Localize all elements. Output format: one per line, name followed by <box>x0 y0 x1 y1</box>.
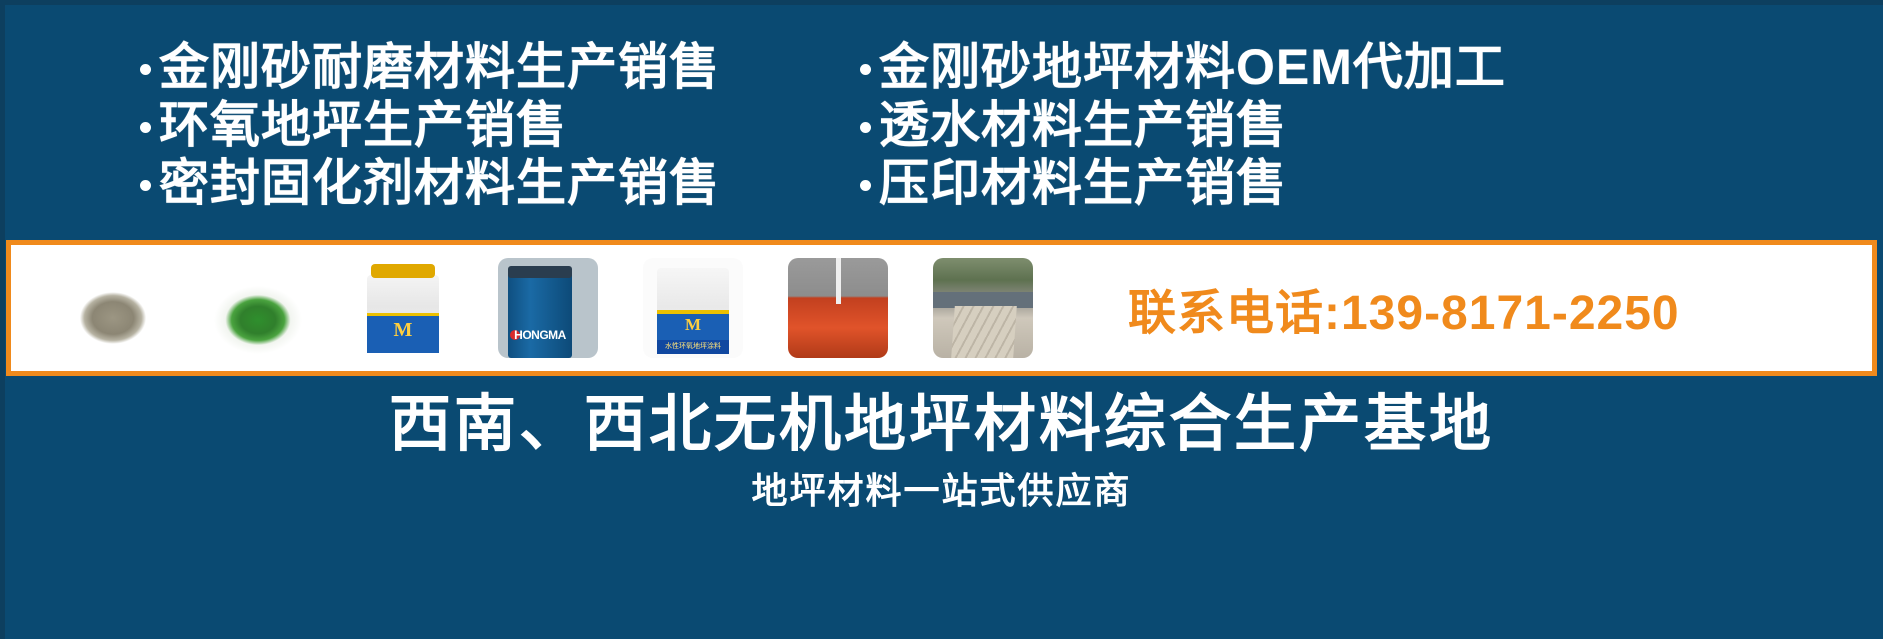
red-permeable-paving-thumbnail <box>788 258 888 358</box>
promo-banner: 金刚砂耐磨材料生产销售 环氧地坪生产销售 密封固化剂材料生产销售 金刚砂地坪材料… <box>0 0 1883 639</box>
feature-item: 金刚砂地坪材料OEM代加工 <box>860 38 1880 96</box>
subheadline: 地坪材料一站式供应商 <box>0 468 1883 514</box>
white-bucket-epoxy-thumbnail: 水性环氧地坪涂料 <box>643 258 743 358</box>
feature-label: 金刚砂地坪材料OEM代加工 <box>879 38 1506 96</box>
bullet-icon <box>860 180 871 191</box>
feature-item: 压印材料生产销售 <box>860 154 1880 212</box>
bucket-caption: 水性环氧地坪涂料 <box>657 340 729 354</box>
feature-label: 压印材料生产销售 <box>879 154 1287 212</box>
contact-phone[interactable]: 联系电话:139-8171-2250 <box>1128 273 1680 343</box>
product-strip: HONGMA 水性环氧地坪涂料 联系电话:139-8171-2250 <box>6 240 1877 376</box>
feature-list: 金刚砂耐磨材料生产销售 环氧地坪生产销售 密封固化剂材料生产销售 金刚砂地坪材料… <box>0 38 1883 223</box>
top-edge-divider <box>0 0 1883 5</box>
green-powder-thumbnail <box>208 258 308 358</box>
bucket-brand-band <box>657 314 729 340</box>
pour-stream <box>836 258 841 304</box>
feature-label: 金刚砂耐磨材料生产销售 <box>159 38 720 96</box>
feature-label: 密封固化剂材料生产销售 <box>159 154 720 212</box>
paving-pattern <box>951 306 1017 358</box>
feature-item: 透水材料生产销售 <box>860 96 1880 154</box>
drum-body <box>508 270 572 358</box>
bullet-icon <box>140 64 151 75</box>
white-bucket-sealer-thumbnail <box>353 258 453 358</box>
headline: 西南、西北无机地坪材料综合生产基地 <box>0 385 1883 465</box>
drum-brand-label: HONGMA <box>508 328 572 342</box>
feature-item: 密封固化剂材料生产销售 <box>140 154 860 212</box>
feature-label: 透水材料生产销售 <box>879 96 1287 154</box>
bullet-icon <box>860 64 871 75</box>
drum-lid <box>508 266 572 278</box>
feature-item: 金刚砂耐磨材料生产销售 <box>140 38 860 96</box>
feature-column-left: 金刚砂耐磨材料生产销售 环氧地坪生产销售 密封固化剂材料生产销售 <box>140 38 860 212</box>
bucket-lid <box>371 264 435 278</box>
feature-column-right: 金刚砂地坪材料OEM代加工 透水材料生产销售 压印材料生产销售 <box>860 38 1880 212</box>
feature-label: 环氧地坪生产销售 <box>159 96 567 154</box>
feature-item: 环氧地坪生产销售 <box>140 96 860 154</box>
sand-powder-thumbnail <box>63 258 163 358</box>
bullet-icon <box>140 122 151 133</box>
bullet-icon <box>140 180 151 191</box>
stamped-concrete-path-thumbnail <box>933 258 1033 358</box>
blue-drum-hongma-thumbnail: HONGMA <box>498 258 598 358</box>
bullet-icon <box>860 122 871 133</box>
bucket-brand-band <box>367 316 439 353</box>
product-strip-inner: HONGMA 水性环氧地坪涂料 联系电话:139-8171-2250 <box>11 245 1872 371</box>
